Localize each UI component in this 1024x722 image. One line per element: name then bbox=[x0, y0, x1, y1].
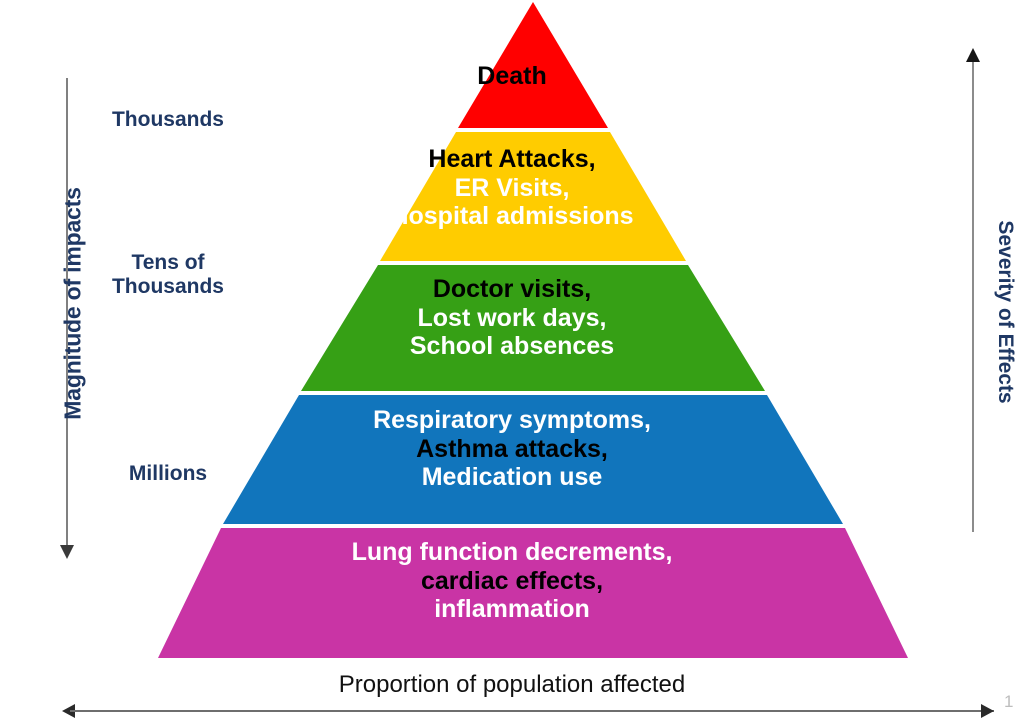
proportion-axis-line bbox=[70, 710, 994, 712]
proportion-axis-right-arrow-icon bbox=[981, 704, 994, 718]
pyramid-tier-death-shape[interactable] bbox=[458, 2, 608, 128]
pyramid-graphic bbox=[0, 0, 1024, 722]
proportion-axis-caption: Proportion of population affected bbox=[0, 671, 1024, 699]
page-corner-mark: 1 bbox=[1004, 692, 1013, 712]
figure-canvas: Magnitude of impacts Thousands Tens of T… bbox=[0, 0, 1024, 722]
pyramid-tier-lung-function-shape[interactable] bbox=[158, 528, 908, 658]
pyramid-tier-heart-attacks-shape[interactable] bbox=[380, 132, 686, 261]
pyramid-tier-respiratory-symptoms-shape[interactable] bbox=[223, 395, 843, 524]
pyramid-tier-doctor-visits-shape[interactable] bbox=[301, 265, 765, 391]
